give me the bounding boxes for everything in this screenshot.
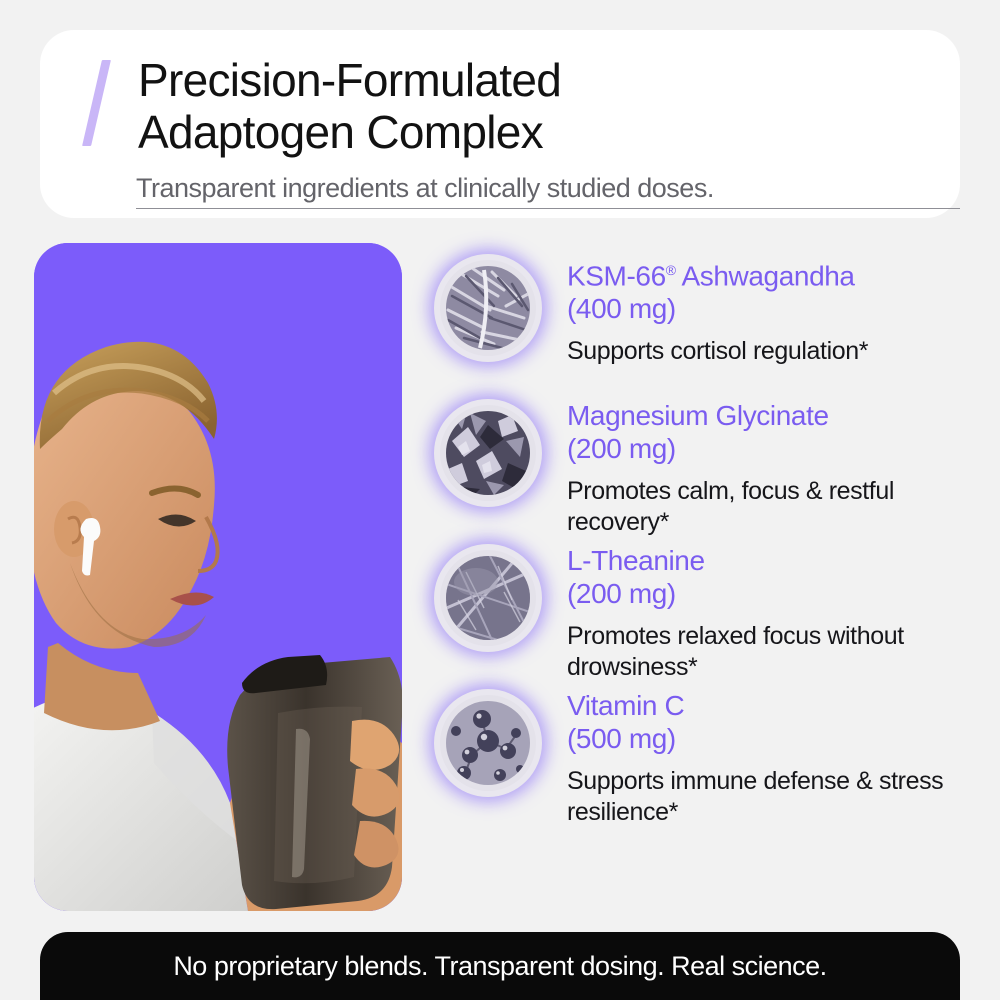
page-title: Precision-Formulated Adaptogen Complex: [138, 54, 938, 158]
ingredient-dose: (400 mg): [567, 292, 960, 325]
ingredient-text: L-Theanine (200 mg) Promotes relaxed foc…: [567, 542, 960, 683]
hero-photo-image: [34, 243, 402, 911]
ingredient-dose: (200 mg): [567, 577, 960, 610]
ingredient-description: Supports immune defense & stress resilie…: [567, 766, 960, 828]
ingredient-list: KSM-66® Ashwagandha (400 mg) Supports co…: [440, 252, 960, 832]
ingredient-thumbnail: [440, 260, 536, 356]
ingredient-name-main: KSM-66: [567, 260, 666, 291]
ingredient-description: Promotes relaxed focus without drowsines…: [567, 621, 960, 683]
ingredient-description: Supports cortisol regulation*: [567, 336, 960, 367]
list-item: L-Theanine (200 mg) Promotes relaxed foc…: [440, 542, 960, 687]
root-fibers-texture-icon: [446, 266, 530, 350]
list-item: Vitamin C (500 mg) Supports immune defen…: [440, 687, 960, 832]
header-card: Precision-Formulated Adaptogen Complex T…: [40, 30, 960, 218]
ingredient-name: KSM-66® Ashwagandha: [567, 254, 960, 292]
mineral-crystal-texture-icon: [446, 411, 530, 495]
ingredient-text: Magnesium Glycinate (200 mg) Promotes ca…: [567, 397, 960, 538]
ingredient-text: KSM-66® Ashwagandha (400 mg) Supports co…: [567, 252, 960, 367]
droplet-bubbles-texture-icon: [446, 701, 530, 785]
ingredient-name: Vitamin C: [567, 689, 960, 722]
ingredient-name-suffix: Ashwagandha: [676, 260, 855, 291]
page-subtitle: Transparent ingredients at clinically st…: [136, 172, 960, 209]
footer-tagline: No proprietary blends. Transparent dosin…: [173, 951, 826, 982]
leaf-vein-texture-icon: [446, 556, 530, 640]
ingredient-dose: (500 mg): [567, 722, 960, 755]
accent-slash-icon: [82, 60, 111, 146]
footer-bar: No proprietary blends. Transparent dosin…: [40, 932, 960, 1000]
ingredient-thumbnail: [440, 405, 536, 501]
ingredient-name: Magnesium Glycinate: [567, 399, 960, 432]
ingredient-thumbnail: [440, 550, 536, 646]
ingredient-dose: (200 mg): [567, 432, 960, 465]
title-line-2: Adaptogen Complex: [138, 106, 938, 158]
ingredient-name-main: Vitamin C: [567, 690, 684, 721]
ingredient-name-main: Magnesium Glycinate: [567, 400, 829, 431]
infographic-page: Precision-Formulated Adaptogen Complex T…: [0, 0, 1000, 1000]
ingredient-text: Vitamin C (500 mg) Supports immune defen…: [567, 687, 960, 828]
title-line-1: Precision-Formulated: [138, 54, 561, 106]
ingredient-name-main: L-Theanine: [567, 545, 705, 576]
list-item: KSM-66® Ashwagandha (400 mg) Supports co…: [440, 252, 960, 397]
trademark-icon: ®: [666, 262, 676, 278]
ingredient-name: L-Theanine: [567, 544, 960, 577]
ingredient-description: Promotes calm, focus & restful recovery*: [567, 476, 960, 538]
ingredient-thumbnail: [440, 695, 536, 791]
hero-photo-panel: [34, 243, 402, 911]
list-item: Magnesium Glycinate (200 mg) Promotes ca…: [440, 397, 960, 542]
